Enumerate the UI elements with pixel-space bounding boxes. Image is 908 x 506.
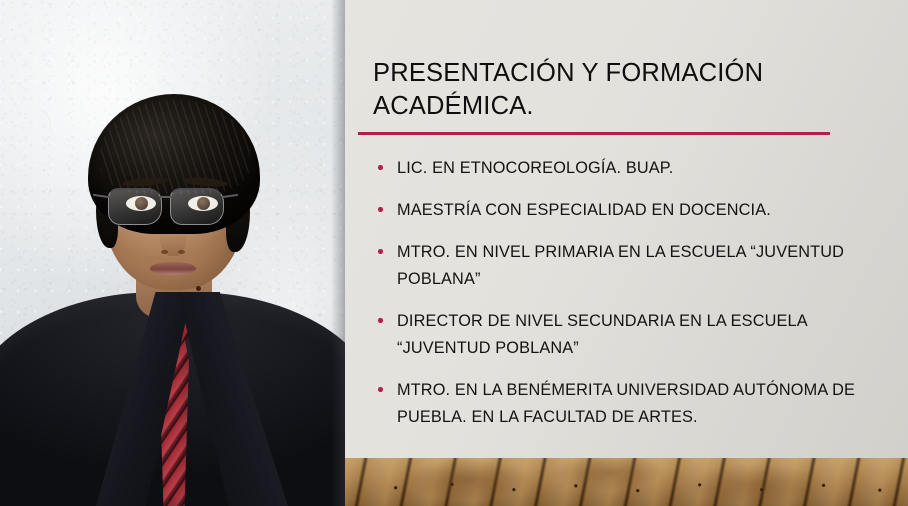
person-figure	[0, 0, 345, 506]
mouth-shape	[150, 262, 196, 275]
nostril-right	[178, 250, 185, 254]
glasses-bridge	[160, 196, 172, 198]
nostril-left	[161, 250, 168, 254]
glasses-temple-right	[222, 194, 238, 199]
list-item: DIRECTOR DE NIVEL SECUNDARIA EN LA ESCUE…	[375, 308, 895, 362]
portrait-photo	[0, 0, 345, 506]
list-item: MTRO. EN LA BENÉMERITA UNIVERSIDAD AUTÓN…	[375, 377, 895, 431]
title-accent-rule	[358, 132, 830, 135]
wood-floor-strip	[345, 458, 908, 506]
list-item: MAESTRÍA CON ESPECIALIDAD EN DOCENCIA.	[375, 197, 895, 224]
bullet-list: LIC. EN ETNOCOREOLOGÍA. BUAP. MAESTRÍA C…	[375, 155, 895, 446]
chin-mole	[196, 286, 201, 291]
list-item: MTRO. EN NIVEL PRIMARIA EN LA ESCUELA “J…	[375, 239, 895, 293]
slide-title: PRESENTACIÓN Y FORMACIÓN ACADÉMICA.	[373, 57, 843, 123]
presentation-slide: PRESENTACIÓN Y FORMACIÓN ACADÉMICA. LIC.…	[0, 0, 908, 506]
content-panel: PRESENTACIÓN Y FORMACIÓN ACADÉMICA. LIC.…	[345, 0, 908, 458]
list-item: LIC. EN ETNOCOREOLOGÍA. BUAP.	[375, 155, 895, 182]
nose-shape	[160, 214, 186, 256]
lens-left	[108, 188, 162, 225]
photo-edge-shadow	[331, 0, 345, 506]
